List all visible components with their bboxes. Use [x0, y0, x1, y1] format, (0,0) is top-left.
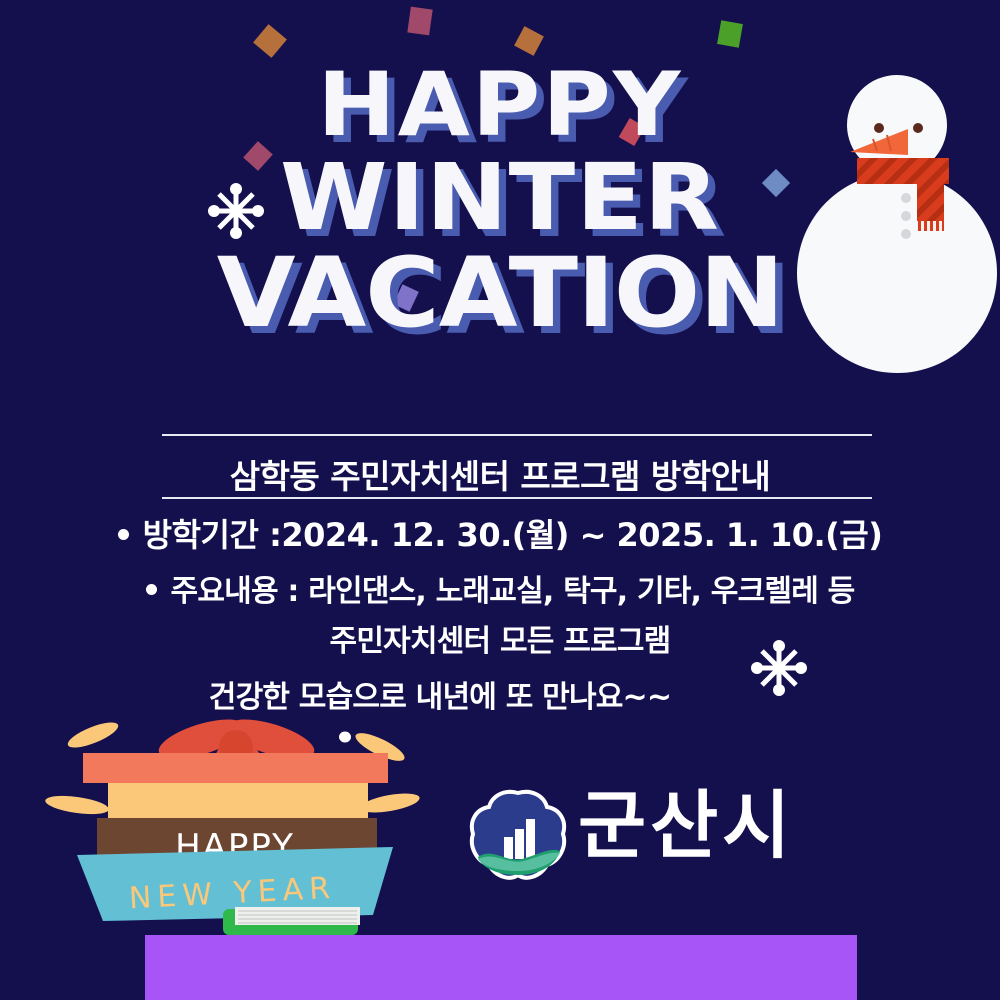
bullet-icon — [146, 584, 157, 595]
closing-text: 건강한 모습으로 내년에 또 만나요~~ — [209, 680, 671, 715]
content-text-2: 주민자치센터 모든 프로그램 — [330, 624, 671, 659]
title-line-vacation: VACATION — [0, 247, 1000, 340]
subheading-text: 삼학동 주민자치센터 프로그램 방학안내 — [0, 450, 1000, 498]
confetti-square — [253, 24, 287, 58]
body-text-block: 방학기간 :2024. 12. 30.(월) ~ 2025. 1. 10.(금)… — [0, 510, 1000, 716]
body-row-closing: 건강한 모습으로 내년에 또 만나요~~ — [0, 672, 1000, 716]
gunsan-emblem-icon — [468, 789, 568, 884]
gunsan-city-logo: 군산시 — [468, 785, 813, 890]
confetti-streak — [44, 793, 110, 818]
confetti-square — [514, 26, 544, 56]
confetti-square — [717, 20, 743, 47]
body-row-content-continued: 주민자치센터 모든 프로그램 — [0, 616, 1000, 660]
confetti-streak — [65, 717, 121, 752]
confetti-square — [407, 7, 432, 36]
poster-title: HAPPY WINTER VACATION — [0, 62, 1000, 340]
poster-canvas: HAPPY WINTER VACATION 삼학동 주민자치센터 프로그램 방학… — [0, 0, 1000, 1000]
confetti-dot — [339, 732, 351, 743]
bullet-icon — [118, 529, 129, 540]
gift-box-body — [108, 783, 368, 818]
body-row-content: 주요내용 : 라인댄스, 노래교실, 탁구, 기타, 우크렐레 등 — [0, 566, 1000, 610]
period-text: 방학기간 :2024. 12. 30.(월) ~ 2025. 1. 10.(금) — [143, 516, 883, 554]
body-row-period: 방학기간 :2024. 12. 30.(월) ~ 2025. 1. 10.(금) — [0, 510, 1000, 556]
gift-box-illustration: HAPPY NEW YEAR — [35, 715, 435, 935]
title-line-winter: WINTER — [0, 153, 1000, 242]
title-line-happy: HAPPY — [0, 62, 1000, 147]
content-text: 주요내용 : 라인댄스, 노래교실, 탁구, 기타, 우크렐레 등 — [171, 574, 855, 609]
logo-city-name: 군산시 — [578, 789, 794, 863]
confetti-streak — [359, 790, 421, 816]
divider-bottom — [162, 497, 872, 499]
book-illustration — [223, 907, 360, 935]
gift-lid — [83, 753, 388, 783]
purple-banner-block — [145, 935, 857, 1000]
divider-top — [162, 434, 872, 436]
